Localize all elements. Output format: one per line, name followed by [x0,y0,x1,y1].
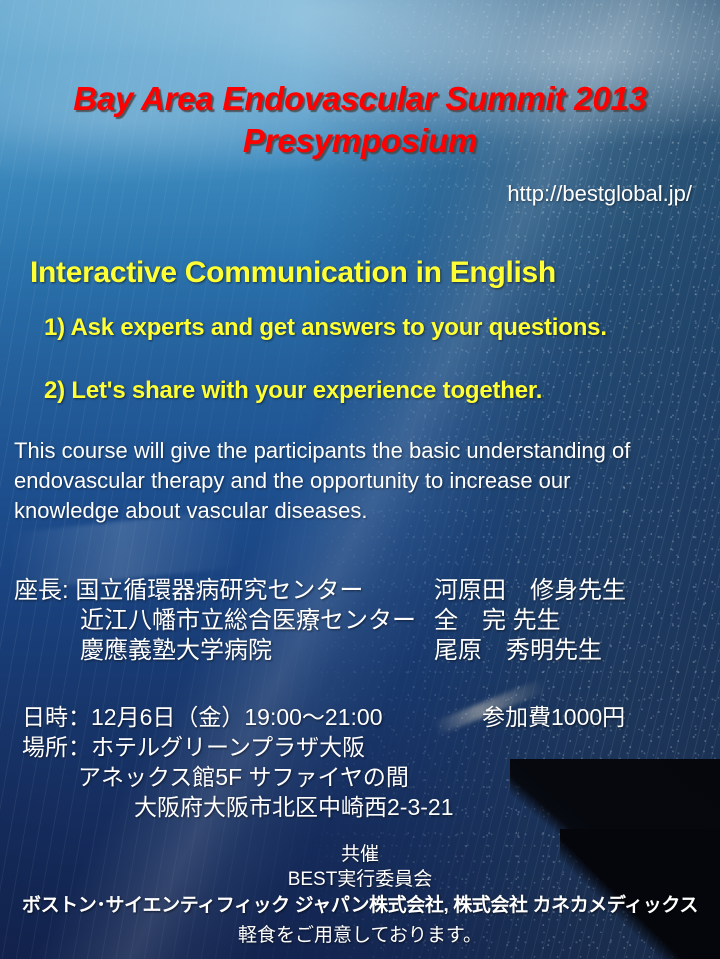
poster-title: Bay Area Endovascular Summit 2013 Presym… [0,78,720,162]
chair-org-text-0: 国立循環器病研究センター [75,577,363,604]
event-details-block: 日時：12月6日（金）19:00〜21:00 参加費1000円 場所：ホテルグリ… [22,702,720,822]
chair-org-2: 慶應義塾大学病院 [14,636,434,666]
chair-person-2: 尾原 秀明先生 [434,636,714,666]
description-line-1: This course will give the participants t… [14,436,704,466]
sponsors-companies: ボストン･サイエンティフィック ジャパン株式会社, 株式会社 カネカメディックス [0,892,720,919]
event-venue-line-3: 大阪府大阪市北区中崎西2-3-21 [22,792,720,822]
event-venue-line-2: アネックス館5F サファイヤの間 [22,762,720,792]
event-fee: 参加費1000円 [482,702,625,732]
event-datetime: 日時：12月6日（金）19:00〜21:00 [22,702,482,732]
bullet-item-2: 2) Let's share with your experience toge… [44,375,542,407]
poster-content: Bay Area Endovascular Summit 2013 Presym… [0,0,720,959]
sponsors-heading: 共催 [0,842,720,867]
website-url[interactable]: http://bestglobal.jp/ [507,180,692,208]
chair-row: 近江八幡市立総合医療センター 全 完 先生 [14,606,714,636]
event-datetime-row: 日時：12月6日（金）19:00〜21:00 参加費1000円 [22,702,720,732]
chair-person-0: 河原田 修身先生 [434,576,714,606]
description-line-3: knowledge about vascular diseases. [14,496,704,526]
section-headline: Interactive Communication in English [30,254,556,292]
event-venue-line-1: 場所：ホテルグリーンプラザ大阪 [22,732,720,762]
chairs-label: 座長: [14,577,69,604]
chair-row: 慶應義塾大学病院 尾原 秀明先生 [14,636,714,666]
chair-org-0: 座長: 国立循環器病研究センター [14,576,434,606]
title-line-2: Presymposium [0,120,720,162]
sponsors-block: 共催 BEST実行委員会 ボストン･サイエンティフィック ジャパン株式会社, 株… [0,842,720,953]
description-line-2: endovascular therapy and the opportunity… [14,466,704,496]
refreshments-note: 軽食をご用意しております。 [0,919,720,953]
chair-person-1: 全 完 先生 [434,606,714,636]
poster: Bay Area Endovascular Summit 2013 Presym… [0,0,720,959]
chair-org-1: 近江八幡市立総合医療センター [14,606,434,636]
chair-row: 座長: 国立循環器病研究センター 河原田 修身先生 [14,576,714,606]
bullet-item-1: 1) Ask experts and get answers to your q… [44,312,607,344]
sponsors-committee: BEST実行委員会 [0,867,720,892]
title-line-1: Bay Area Endovascular Summit 2013 [73,80,647,117]
chairpersons-block: 座長: 国立循環器病研究センター 河原田 修身先生 近江八幡市立総合医療センター… [14,576,714,666]
course-description: This course will give the participants t… [14,436,704,526]
